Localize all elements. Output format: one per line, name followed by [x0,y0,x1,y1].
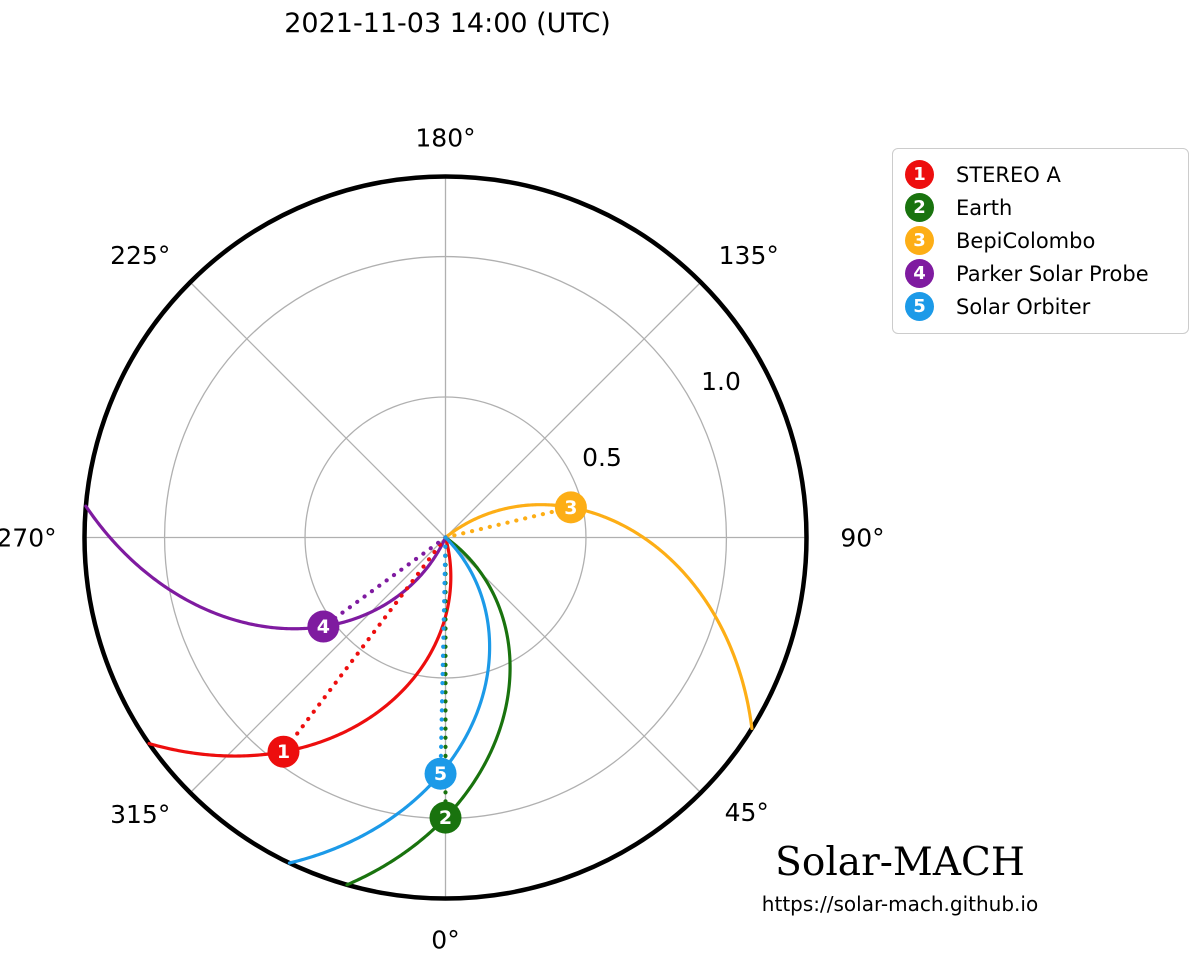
legend-label-2: Earth [956,196,1012,220]
brand-title: Solar-MACH [690,843,1110,884]
legend-marker-5: 5 [905,292,934,321]
brand-url: https://solar-mach.github.io [690,892,1110,916]
theta-tick-label-180: 180° [415,124,475,153]
theta-tick-label-225: 225° [110,241,170,270]
theta-tick-label-90: 90° [840,524,884,553]
theta-tick-label-45: 45° [725,798,769,827]
theta-tick-label-315: 315° [110,800,170,829]
body-markers: 12345 [267,491,586,833]
spiral-1 [149,538,451,757]
body-marker-3[interactable]: 3 [555,491,587,523]
r-tick-label-1: 1.0 [701,367,741,396]
legend-marker-2: 2 [905,193,934,222]
legend-item[interactable]: 2 Earth [905,191,1176,224]
body-number-1: 1 [277,741,290,763]
body-number-2: 2 [439,807,452,829]
legend-label-1: STEREO A [956,163,1061,187]
theta-tick-label-135: 135° [719,241,779,270]
body-marker-5[interactable]: 5 [425,758,457,790]
spiral-lines [86,505,752,885]
theta-spoke-225 [190,282,445,537]
theta-tick-label-0: 0° [431,926,459,955]
solar-mach-figure: 2021-11-03 14:00 (UTC) 12345 0°45°90°135… [0,0,1200,965]
legend-label-5: Solar Orbiter [956,295,1090,319]
r-tick-label-0.5: 0.5 [582,443,622,472]
legend-label-3: BepiColombo [956,229,1095,253]
radial-line-4 [323,538,445,627]
body-number-4: 4 [317,616,330,638]
legend: 1 STEREO A 2 Earth 3 BepiColombo 4 Parke… [892,148,1189,334]
legend-item[interactable]: 5 Solar Orbiter [905,290,1176,323]
legend-marker-1: 1 [905,160,934,189]
branding: Solar-MACH https://solar-mach.github.io [690,843,1110,916]
body-marker-4[interactable]: 4 [307,611,339,643]
body-number-5: 5 [434,763,447,785]
legend-item[interactable]: 1 STEREO A [905,158,1176,191]
legend-item[interactable]: 4 Parker Solar Probe [905,257,1176,290]
legend-marker-4: 4 [905,259,934,288]
spiral-3 [446,505,752,729]
radial-line-3 [446,507,571,537]
polar-plot: 12345 0°45°90°135°180°225°270°315°0.51.0 [0,0,1200,965]
legend-item[interactable]: 3 BepiColombo [905,224,1176,257]
body-marker-2[interactable]: 2 [430,802,462,834]
legend-marker-3: 3 [905,226,934,255]
body-number-3: 3 [564,497,577,519]
body-marker-1[interactable]: 1 [267,736,299,768]
legend-label-4: Parker Solar Probe [956,262,1149,286]
theta-tick-label-270: 270° [0,524,57,553]
